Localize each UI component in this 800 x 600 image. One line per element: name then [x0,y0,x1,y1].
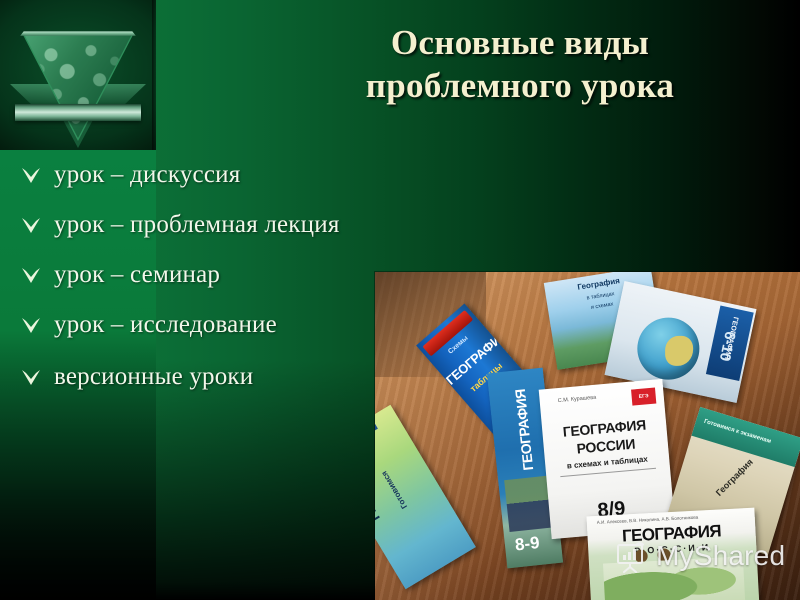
list-item-label: версионные уроки [54,363,253,391]
list-item-label: урок – семинар [54,261,220,289]
presentation-slide: Основные виды проблемного урока урок – д… [0,0,800,600]
slide-title-line-2: проблемного урока [250,65,790,108]
list-item: урок – семинар [8,250,428,300]
chevron-down-bullet-icon [8,313,54,335]
presentation-chart-icon [614,539,648,573]
myshared-shared: Shared [694,540,786,571]
list-item: урок – дискуссия [8,150,428,200]
pyramid-top-face [20,31,136,35]
bullet-list: урок – дискуссия урок – проблемная лекци… [8,150,428,402]
slide-title-line-1: Основные виды [250,22,790,65]
globe-graphic [632,312,706,386]
chevron-down-bullet-icon [8,365,54,387]
pyramid-base-bar [15,104,141,121]
list-item: урок – проблемная лекция [8,200,428,250]
slide-title: Основные виды проблемного урока [250,22,790,107]
myshared-watermark: MyShared [614,539,785,573]
textbooks-photo: География в таблицах и схемах Схемы ГЕОГ… [375,272,800,600]
book-author: С.М. Курашева [558,395,597,404]
list-item: урок – исследование [8,300,428,350]
list-item-label: урок – проблемная лекция [54,211,340,239]
book-badge: ЕГЭ [631,388,656,406]
chevron-down-bullet-icon [8,263,54,285]
list-item: версионные уроки [8,352,428,402]
list-item-label: урок – исследование [54,311,277,339]
myshared-wordmark: MyShared [656,540,785,572]
list-item-label: урок – дискуссия [54,161,240,189]
book-grades: 8-9 [514,533,541,555]
chevron-down-bullet-icon [8,213,54,235]
myshared-my: My [656,540,694,571]
chevron-down-bullet-icon [8,163,54,185]
inverted-pyramid-emblem [10,22,146,142]
